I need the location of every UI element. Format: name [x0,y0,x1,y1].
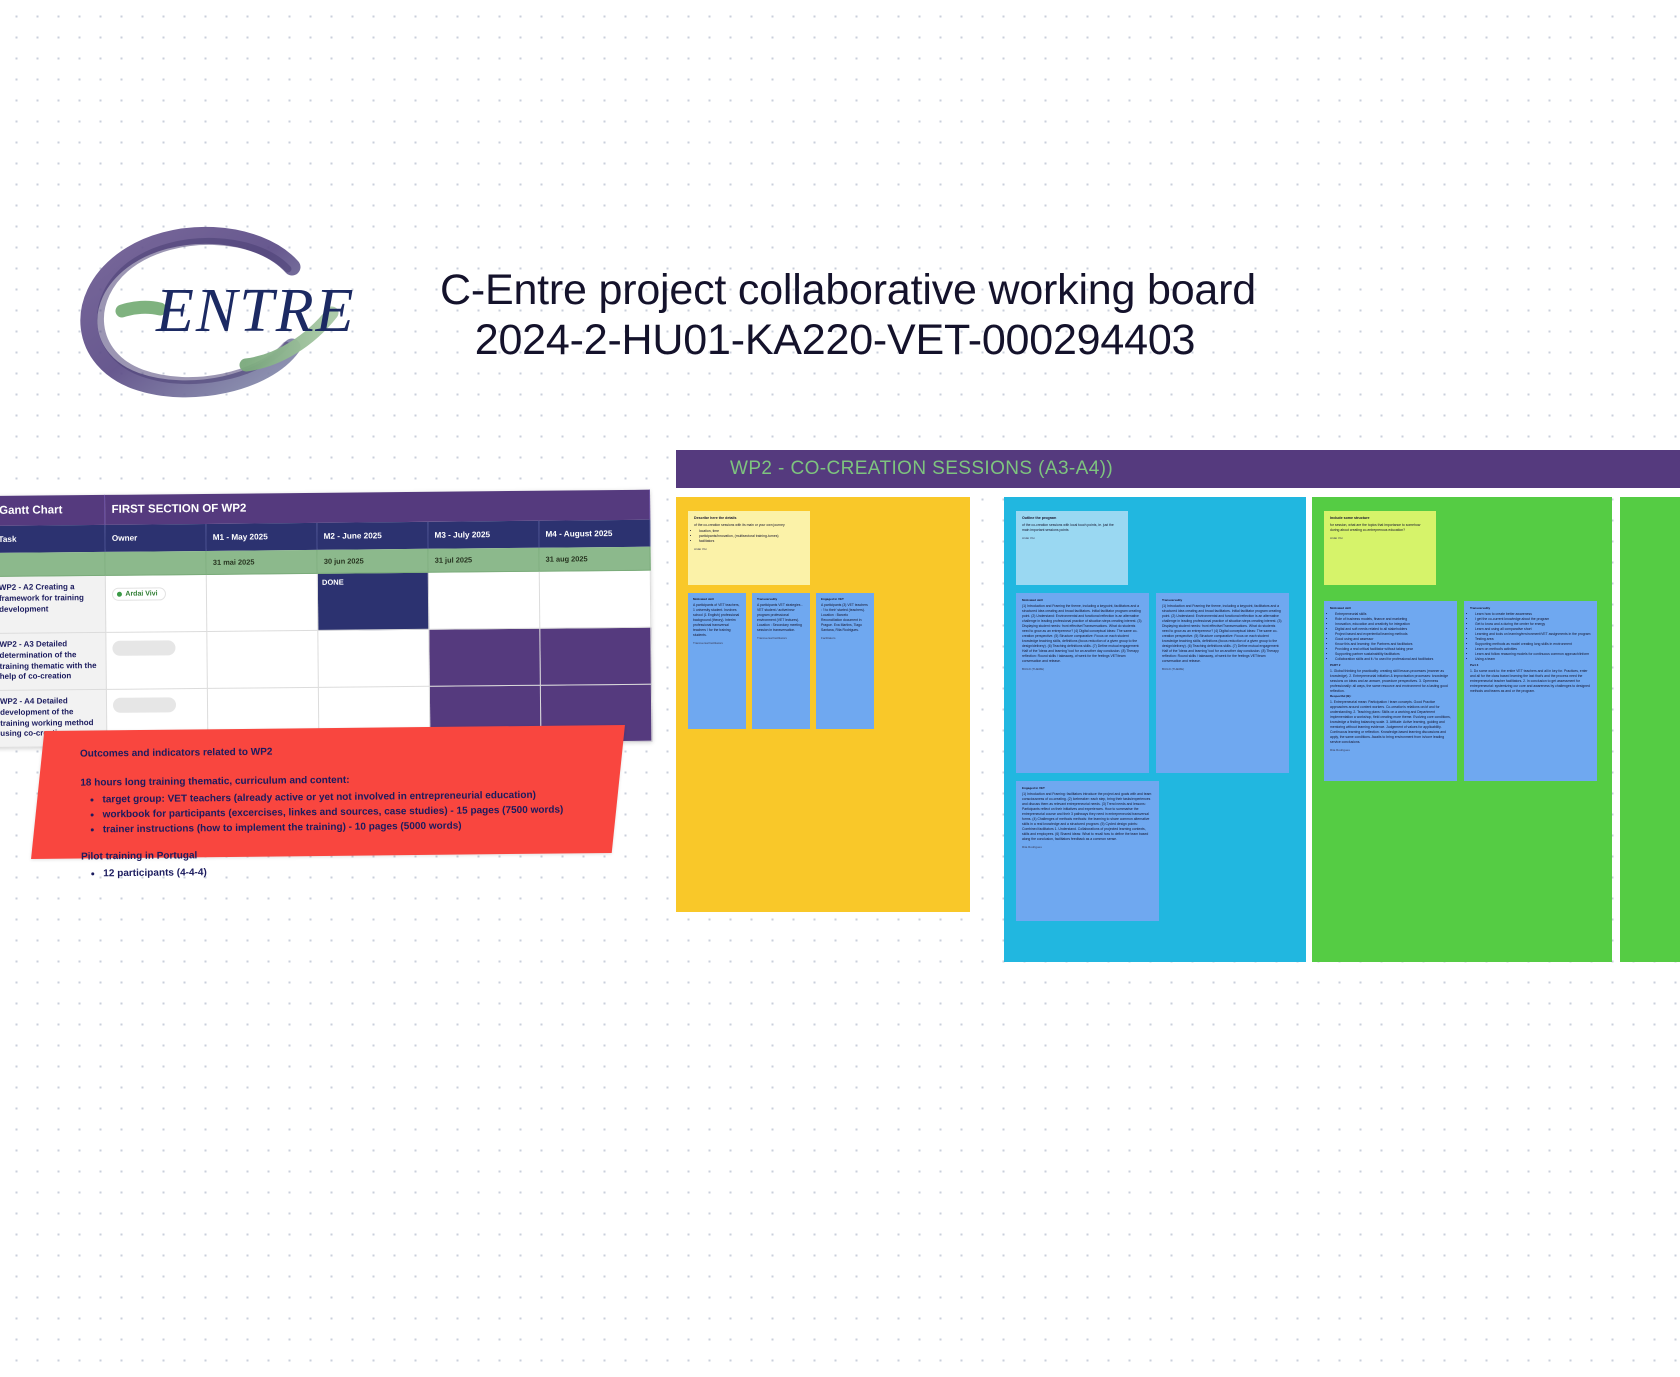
sticky-header: Transversality [1162,598,1283,602]
gantt-bar-label: DONE [319,574,427,587]
sticky-note-structure-motivated[interactable]: Motivated skill Entrepreneurial skills R… [1324,601,1457,781]
sticky-body: (1) Introduction and Framing: facilitato… [1022,792,1151,840]
gantt-cell-m4[interactable] [539,570,651,628]
sticky-author: Facilitators [821,636,869,640]
outcomes-bullet-list: target group: VET teachers (already acti… [80,787,595,837]
cocreation-column-structure-overflow[interactable] [1620,497,1680,962]
gantt-chart-card[interactable]: Gantt Chart FIRST SECTION OF WP2 Task Ow… [0,490,652,748]
task-name: WP2 - A2 Creating a framework for traini… [0,575,106,633]
sticky-section-body: 1. Global thinking for practicality: cre… [1330,669,1448,693]
sticky-bullets: Learn how to create better awareness I g… [1470,612,1591,661]
sticky-body: (1) Introduction and Framing the theme, … [1022,604,1142,662]
sticky-note-motivated[interactable]: Motivated skill A participants of VET te… [688,593,746,729]
col-header-m4: M4 - August 2025 [539,520,650,548]
gantt-label: Gantt Chart [0,495,105,526]
sticky-header: Engaged in VET [1022,786,1153,790]
sticky-section-body: 1. Do some work to: the entire VET teach… [1470,669,1590,693]
gantt-cell-m3[interactable] [428,571,539,629]
owner-chip-empty[interactable] [113,697,176,713]
col-header-task: Task [0,525,105,553]
date-spacer-task [0,552,106,577]
date-m3: 31 jul 2025 [428,548,539,573]
sticky-header: Motivated skill [693,597,741,601]
sticky-author: BUILD (THEME) [1162,667,1283,671]
owner-chip[interactable]: Ardai Vivi [112,587,165,601]
sticky-body: A participants of VET teachers, 1 univer… [693,603,740,637]
sticky-title: Include some structure [1330,516,1430,521]
sticky-header: Motivated skill [1330,606,1451,610]
sticky-section-title: PART 2 [1330,663,1451,667]
sticky-body: A participants (3) VET teachers : 'I to … [821,603,868,632]
col-header-m2: M2 - June 2025 [317,522,428,550]
sticky-body: of the co-creation sessions with local t… [1022,523,1114,532]
sticky-author: Ardai Vivi [694,547,804,551]
sticky-header: Engaged in VET [821,597,869,601]
owner-name: Ardai Vivi [125,590,157,597]
sticky-note-program-motivated[interactable]: Motivated skill (1) Introduction and Fra… [1016,593,1149,773]
list-item: facilitators [699,539,804,544]
sticky-bullets: location, time participants/innovation, … [694,529,804,544]
sticky-note-brief[interactable]: Describe here the details of the co-crea… [688,511,810,585]
sticky-author: BUILD (THEME) [1022,667,1143,671]
sticky-note-engaged[interactable]: Engaged in VET A participants (3) VET te… [816,593,874,729]
gantt-bar-planned[interactable] [429,628,540,686]
gantt-table: Gantt Chart FIRST SECTION OF WP2 Task Ow… [0,490,652,748]
sticky-author: Rita Rodrigues [1022,845,1153,849]
sticky-section-title: Respectful (B): [1330,694,1451,698]
outcomes-note-title: Outcomes and indicators related to WP2 [80,741,595,761]
sticky-header: Transversality [757,597,805,601]
gantt-bar-done[interactable]: DONE [317,572,428,630]
sticky-author: Ardai Vivi [1330,536,1430,540]
sticky-note-program-engaged[interactable]: Engaged in VET (1) Introduction and Fram… [1016,781,1159,921]
page-title-line2: 2024-2-HU01-KA220-VET-000294403 [440,315,1230,365]
cocreation-column-details[interactable]: Describe here the details of the co-crea… [676,497,970,912]
sticky-section-title: Part 3 [1470,663,1591,667]
date-m2: 30 jun 2025 [317,549,428,574]
table-row[interactable]: WP2 - A2 Creating a framework for traini… [0,570,651,633]
pilot-bullet-list: 12 participants (4-4-4) [81,861,596,881]
sticky-body: of the co-creation sessions with its mai… [694,523,785,527]
sticky-body: for session, what are the topics that im… [1330,523,1420,532]
sticky-note-row: Motivated skill A participants of VET te… [688,593,958,729]
cocreation-column-structure[interactable]: Include some structure for session, what… [1312,497,1612,962]
sticky-author: Ardai Vivi [1022,536,1122,540]
list-item: Collaboration skills and it / to used fo… [1335,657,1451,662]
list-item: 12 participants (4-4-4) [103,861,596,881]
page-title: C-Entre project collaborative working bo… [440,265,1230,366]
sticky-author: Transversal facilitators [693,641,741,645]
sticky-body: A participants VET strategies - VET stud… [757,603,803,632]
sticky-section-body: 1. Entrepreneurial mean: Participation /… [1330,700,1451,744]
date-spacer-owner [105,551,206,575]
sticky-note-row: Motivated skill (1) Introduction and Fra… [1016,593,1294,773]
col-header-m1: M1 - May 2025 [206,523,317,551]
sticky-author: Rita Rodrigues [1330,748,1451,752]
cocreation-board: WP2 - CO-CREATION SESSIONS (A3-A4)) Desc… [676,450,1680,967]
sticky-bullets: Entrepreneurial skills Role of business … [1330,612,1451,661]
gantt-bar-planned[interactable] [540,627,652,685]
sticky-note-row: Motivated skill Entrepreneurial skills R… [1324,593,1600,781]
cocreation-column-program[interactable]: Outline the program of the co-creation s… [1004,497,1306,962]
sticky-note-program-brief[interactable]: Outline the program of the co-creation s… [1016,511,1128,585]
date-m1: 31 mai 2025 [206,550,317,575]
gantt-cell-m1[interactable] [207,573,318,631]
col-header-m3: M3 - July 2025 [428,521,539,549]
gantt-cell-m1[interactable] [207,630,318,688]
outcomes-note[interactable]: Outcomes and indicators related to WP2 1… [31,725,625,859]
sticky-note-transversality[interactable]: Transversality A participants VET strate… [752,593,810,729]
date-m4: 31 aug 2025 [539,547,650,572]
sticky-note-structure-brief[interactable]: Include some structure for session, what… [1324,511,1436,585]
svg-text:ENTRE: ENTRE [155,277,355,345]
sticky-header: Transversality [1470,606,1591,610]
entre-logo: ENTRE [60,215,420,400]
table-row[interactable]: WP2 - A3 Detailed determination of the t… [0,627,651,690]
owner-chip-empty[interactable] [113,640,176,656]
avatar-dot-icon [117,592,122,597]
owner-cell[interactable] [106,631,207,689]
sticky-note-structure-transversality[interactable]: Transversality Learn how to create bette… [1464,601,1597,781]
sticky-header: Motivated skill [1022,598,1143,602]
task-name: WP2 - A3 Detailed determination of the t… [0,632,107,690]
sticky-author: Transversal facilitators [757,636,805,640]
page-title-line1: C-Entre project collaborative working bo… [440,265,1230,315]
cocreation-banner: WP2 - CO-CREATION SESSIONS (A3-A4)) [676,450,1680,488]
sticky-title: Describe here the details [694,516,804,521]
gantt-cell-m2[interactable] [318,629,429,687]
list-item: Using a team [1475,657,1591,662]
col-header-owner: Owner [105,524,206,552]
sticky-title: Outline the program [1022,516,1122,521]
sticky-note-program-transversality[interactable]: Transversality (1) Introduction and Fram… [1156,593,1289,773]
owner-cell[interactable]: Ardai Vivi [106,574,207,632]
sticky-body: (1) Introduction and Framing the theme, … [1162,604,1282,662]
